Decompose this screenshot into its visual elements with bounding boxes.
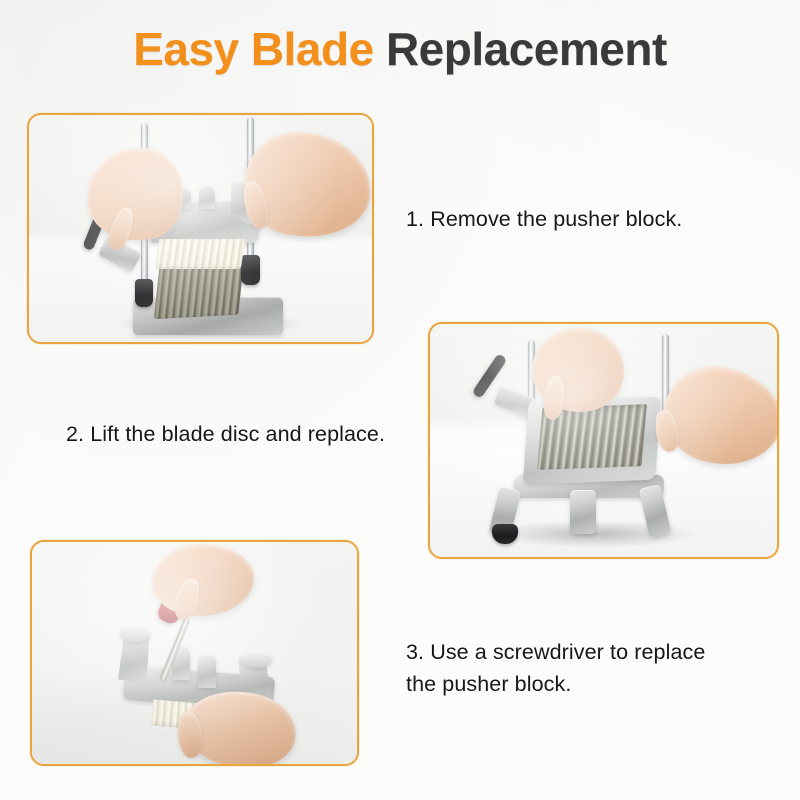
step-3-photo: [32, 542, 357, 764]
page-title-accent: Easy Blade: [133, 23, 373, 75]
step-2-photo-panel: [428, 322, 779, 559]
step-3-photo-panel: [30, 540, 359, 766]
step-2-caption: 2. Lift the blade disc and replace.: [66, 418, 411, 450]
pusher-knob-right: [199, 185, 215, 209]
rod-stopper-left: [135, 279, 153, 307]
step-3-caption: 3. Use a screwdriver to replace the push…: [406, 636, 736, 700]
step-1-caption: 1. Remove the pusher block.: [406, 203, 726, 235]
step-2-photo: [430, 324, 777, 557]
pusher-bore-right: [242, 650, 272, 668]
rod-stopper-right: [241, 255, 260, 285]
stand-leg-center: [570, 490, 596, 534]
pusher-block-teeth: [155, 239, 245, 269]
pusher-knob-right: [198, 654, 216, 688]
step-1-photo-panel: [27, 113, 374, 344]
page-title: Easy Blade Replacement: [0, 22, 800, 76]
page-title-rest: Replacement: [374, 23, 667, 75]
pusher-bore-left: [120, 624, 150, 642]
step-1-photo: [29, 115, 372, 342]
